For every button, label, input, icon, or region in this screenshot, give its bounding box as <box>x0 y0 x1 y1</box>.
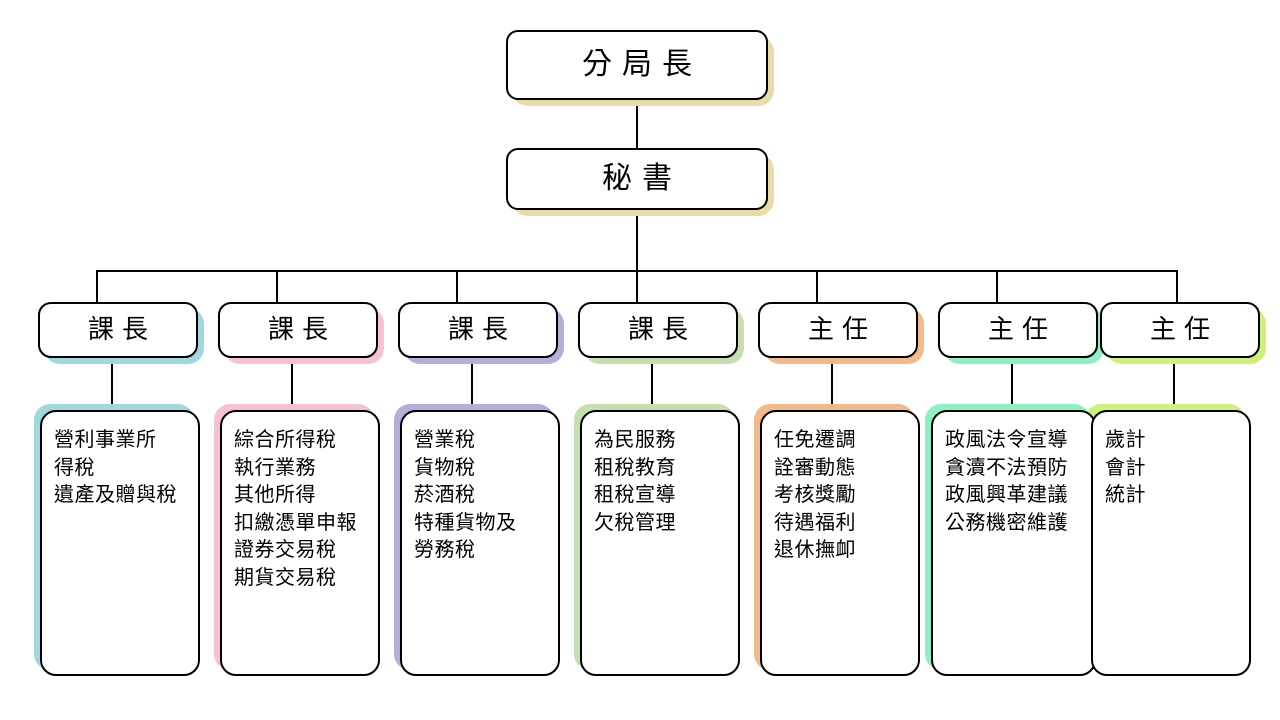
detail-item: 期貨交易稅 <box>234 564 370 592</box>
detail-item: 得稅 <box>54 454 190 482</box>
detail-item: 貪瀆不法預防 <box>945 454 1086 482</box>
detail-item: 詮審動態 <box>774 454 910 482</box>
detail-item: 菸酒稅 <box>414 481 550 509</box>
branch-detail-list-6: 政風法令宣導 貪瀆不法預防 政風興革建議 公務機密維護 <box>945 426 1086 536</box>
director-label: 分局長 <box>572 50 702 80</box>
detail-item: 遺產及贈與稅 <box>54 481 190 509</box>
branch-detail-box-7[interactable]: 歲計 會計 統計 <box>1091 410 1251 676</box>
detail-item: 會計 <box>1105 454 1241 482</box>
director-box[interactable]: 分局長 <box>506 30 768 100</box>
branch-detail-list-2: 綜合所得稅 執行業務 其他所得 扣繳憑單申報 證券交易稅 期貨交易稅 <box>234 426 370 592</box>
detail-item: 貨物稅 <box>414 454 550 482</box>
branch-title-label-4: 課長 <box>620 317 696 343</box>
branch-detail-list-5: 任免遷調 詮審動態 考核獎勵 待遇福利 退休撫卹 <box>774 426 910 564</box>
detail-item: 政風法令宣導 <box>945 426 1086 454</box>
detail-item: 執行業務 <box>234 454 370 482</box>
detail-item: 統計 <box>1105 481 1241 509</box>
detail-item: 考核獎勵 <box>774 481 910 509</box>
detail-item: 歲計 <box>1105 426 1241 454</box>
detail-item: 特種貨物及 <box>414 509 550 537</box>
secretary-label: 秘書 <box>592 164 682 194</box>
branch-title-label-7: 主任 <box>1142 317 1218 343</box>
secretary-box[interactable]: 秘書 <box>506 148 768 210</box>
connector-bus-to-branch-3 <box>456 270 458 302</box>
detail-item: 綜合所得稅 <box>234 426 370 454</box>
connector-bus-to-branch-7 <box>1176 270 1178 302</box>
branch-detail-box-1[interactable]: 營利事業所 得稅 遺產及贈與稅 <box>40 410 200 676</box>
branch-title-box-7[interactable]: 主任 <box>1100 302 1260 358</box>
branch-title-box-6[interactable]: 主任 <box>938 302 1098 358</box>
detail-item: 證券交易稅 <box>234 536 370 564</box>
connector-bus-to-branch-2 <box>276 270 278 302</box>
branch-detail-list-3: 營業稅 貨物稅 菸酒稅 特種貨物及 勞務稅 <box>414 426 550 564</box>
detail-item: 營業稅 <box>414 426 550 454</box>
branch-detail-box-6[interactable]: 政風法令宣導 貪瀆不法預防 政風興革建議 公務機密維護 <box>931 410 1096 676</box>
branch-title-box-1[interactable]: 課長 <box>38 302 198 358</box>
branch-detail-list-4: 為民服務 租稅教育 租稅宣導 欠稅管理 <box>594 426 730 536</box>
detail-item: 公務機密維護 <box>945 509 1086 537</box>
detail-item: 為民服務 <box>594 426 730 454</box>
detail-item: 任免遷調 <box>774 426 910 454</box>
branch-title-label-2: 課長 <box>260 317 336 343</box>
detail-item: 其他所得 <box>234 481 370 509</box>
branch-detail-box-2[interactable]: 綜合所得稅 執行業務 其他所得 扣繳憑單申報 證券交易稅 期貨交易稅 <box>220 410 380 676</box>
org-chart-canvas: 分局長 秘書 課長 營利事業所 得稅 遺產及贈與稅 課長 綜合所得稅 <box>0 0 1280 720</box>
branch-detail-list-1: 營利事業所 得稅 遺產及贈與稅 <box>54 426 190 509</box>
detail-item: 政風興革建議 <box>945 481 1086 509</box>
connector-bus-to-branch-4 <box>636 270 638 302</box>
detail-item: 退休撫卹 <box>774 536 910 564</box>
detail-item: 營利事業所 <box>54 426 190 454</box>
connector-bus-to-branch-5 <box>816 270 818 302</box>
branch-title-box-3[interactable]: 課長 <box>398 302 558 358</box>
branch-title-label-6: 主任 <box>980 317 1056 343</box>
branch-title-label-5: 主任 <box>800 317 876 343</box>
branch-detail-box-5[interactable]: 任免遷調 詮審動態 考核獎勵 待遇福利 退休撫卹 <box>760 410 920 676</box>
branch-title-label-3: 課長 <box>440 317 516 343</box>
branch-title-box-5[interactable]: 主任 <box>758 302 918 358</box>
connector-secretary-to-bus <box>636 210 638 272</box>
detail-item: 欠稅管理 <box>594 509 730 537</box>
branch-title-label-1: 課長 <box>80 317 156 343</box>
connector-bus-to-branch-6 <box>996 270 998 302</box>
detail-item: 勞務稅 <box>414 536 550 564</box>
branch-detail-box-3[interactable]: 營業稅 貨物稅 菸酒稅 特種貨物及 勞務稅 <box>400 410 560 676</box>
detail-item: 扣繳憑單申報 <box>234 509 370 537</box>
detail-item: 租稅宣導 <box>594 481 730 509</box>
branch-detail-list-7: 歲計 會計 統計 <box>1105 426 1241 509</box>
detail-item: 租稅教育 <box>594 454 730 482</box>
connector-bus-to-branch-1 <box>96 270 98 302</box>
connector-director-to-secretary <box>636 100 638 148</box>
branch-title-box-4[interactable]: 課長 <box>578 302 738 358</box>
branch-detail-box-4[interactable]: 為民服務 租稅教育 租稅宣導 欠稅管理 <box>580 410 740 676</box>
detail-item: 待遇福利 <box>774 509 910 537</box>
branch-title-box-2[interactable]: 課長 <box>218 302 378 358</box>
